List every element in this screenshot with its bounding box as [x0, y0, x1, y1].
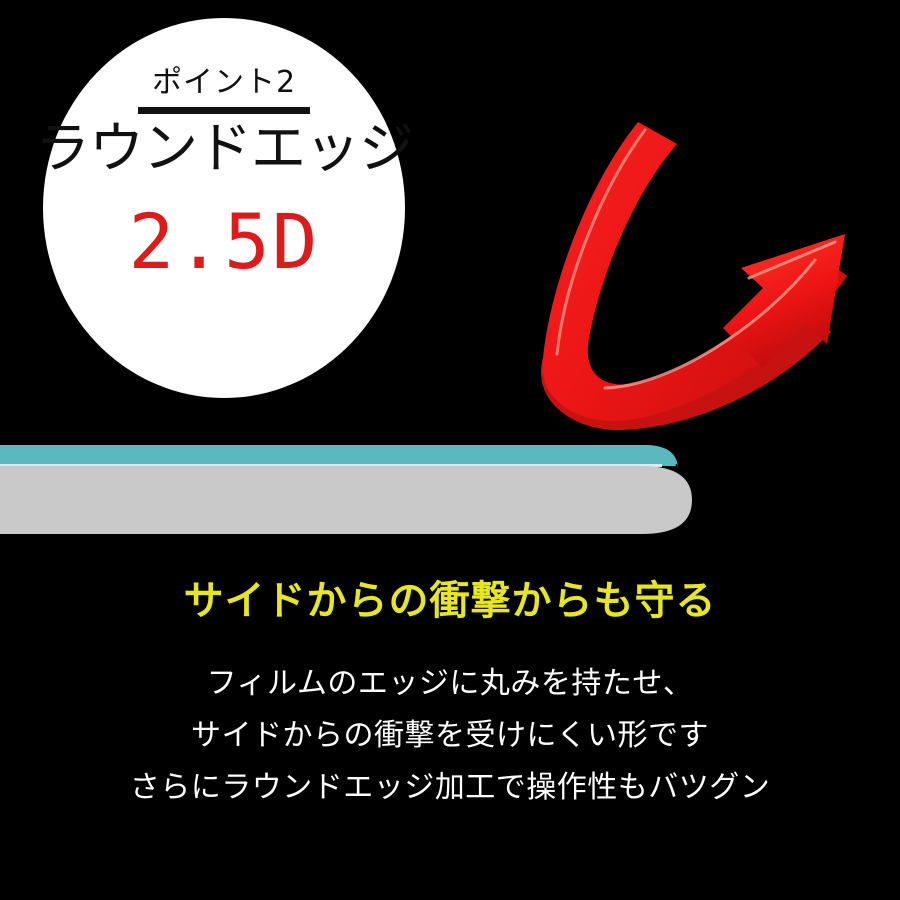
headline-text: サイドからの衝撃からも守る: [0, 578, 900, 625]
device-edge-cross-section: [0, 440, 700, 540]
body-copy-line-2: サイドからの衝撃を受けにくい形です: [0, 710, 900, 762]
body-copy: フィルムのエッジに丸みを持たせ、 サイドからの衝撃を受けにくい形です さらにラウ…: [0, 658, 900, 814]
device-body-layer: [0, 466, 692, 534]
body-copy-line-3: さらにラウンドエッジ加工で操作性もバツグン: [0, 762, 900, 814]
body-copy-line-1: フィルムのエッジに丸みを持たせ、: [0, 658, 900, 710]
badge-content: ポイント2 ラウンドエッジ 2.5D: [43, 18, 405, 398]
badge-title: ラウンドエッジ: [35, 120, 413, 178]
badge-spec-value: 2.5D: [128, 204, 319, 280]
badge-point-label: ポイント2: [152, 68, 296, 98]
badge-divider-rule: [138, 107, 310, 114]
promo-graphic-canvas: ポイント2 ラウンドエッジ 2.5D: [0, 0, 900, 900]
protective-film-layer-fill: [0, 445, 676, 466]
curved-u-turn-arrow-icon: [495, 100, 895, 430]
